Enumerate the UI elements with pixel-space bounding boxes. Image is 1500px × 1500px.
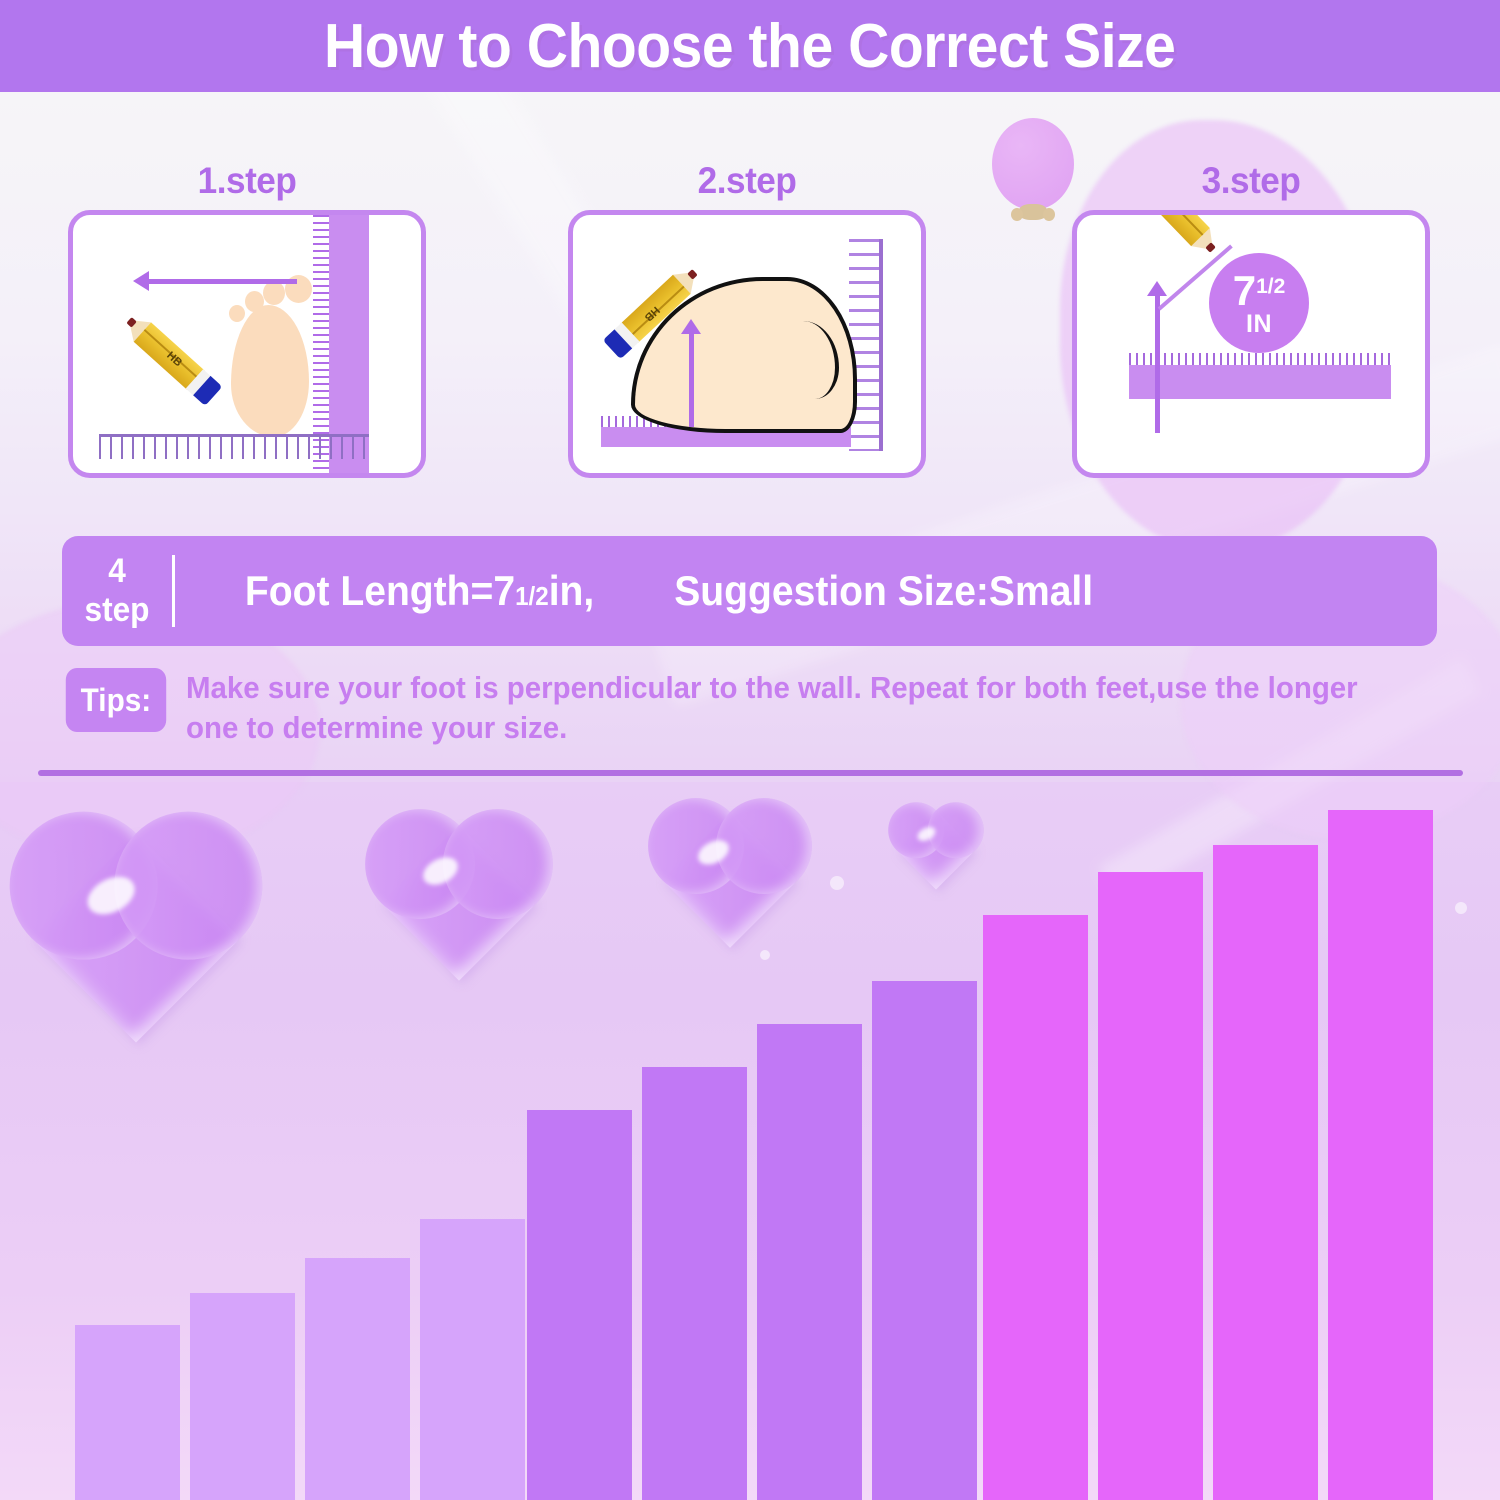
step-3: 3.step 7 1/2 IN xyxy=(1072,160,1430,478)
page-title: How to Choose the Correct Size xyxy=(324,11,1175,82)
chart-bar xyxy=(983,915,1088,1500)
badge-number: 7 xyxy=(1233,270,1256,312)
chart-bar xyxy=(190,1293,295,1500)
measure-arrow-icon xyxy=(147,279,297,284)
measurement-badge: 7 1/2 IN xyxy=(1209,253,1309,353)
chart-bar xyxy=(642,1067,747,1500)
step-2: 2.step HB xyxy=(568,160,926,478)
foot-length-prefix: Foot Length=7 xyxy=(245,567,515,615)
step-1-illustration: HB xyxy=(68,210,426,478)
size-bar-chart: SIZE:S 11C−13.5C/7−73/4(IN) SIZE:M 1−4/8… xyxy=(0,782,1500,1500)
wall-icon xyxy=(879,239,883,451)
chart-bar xyxy=(1213,845,1318,1500)
header-banner: How to Choose the Correct Size xyxy=(0,0,1500,92)
footprint-icon xyxy=(223,259,315,437)
chart-bar xyxy=(75,1325,180,1500)
chart-bar xyxy=(527,1110,632,1500)
measure-arrow-icon xyxy=(1155,293,1160,433)
chart-bar xyxy=(305,1258,410,1500)
ruler-icon xyxy=(1129,365,1391,399)
step-2-illustration: HB xyxy=(568,210,926,478)
tips-section: Tips: Make sure your foot is perpendicul… xyxy=(62,668,1452,747)
tips-text: Make sure your foot is perpendicular to … xyxy=(186,668,1389,747)
badge-unit: IN xyxy=(1233,312,1286,337)
step-4-summary-bar: 4 step Foot Length=7 1/2 in, Suggestion … xyxy=(62,536,1437,646)
step-4-number: 4 xyxy=(66,552,168,591)
divider xyxy=(172,555,175,627)
step-2-label: 2.step xyxy=(577,160,917,202)
section-divider xyxy=(38,770,1463,776)
step-4-text: Foot Length=7 1/2 in, Suggestion Size:Sm… xyxy=(245,567,1093,615)
step-4-badge: 4 step xyxy=(66,552,168,630)
badge-fraction: 1/2 xyxy=(1256,276,1285,297)
ruler-icon xyxy=(99,434,369,459)
chart-bar xyxy=(757,1024,862,1500)
chart-bar xyxy=(420,1219,525,1500)
tips-label: Tips: xyxy=(66,668,166,732)
chart-bar xyxy=(872,981,977,1500)
chart-bar xyxy=(1098,872,1203,1500)
size-guide-infographic: How to Choose the Correct Size 1.step xyxy=(0,0,1500,1500)
foot-length-fraction: 1/2 xyxy=(515,581,549,612)
step-3-label: 3.step xyxy=(1081,160,1421,202)
suggestion-size: Suggestion Size:Small xyxy=(674,567,1093,615)
step-1: 1.step HB xyxy=(68,160,426,478)
pencil-icon: HB xyxy=(1126,210,1223,259)
step-1-label: 1.step xyxy=(77,160,417,202)
step-3-illustration: 7 1/2 IN HB xyxy=(1072,210,1430,478)
foot-length-suffix: in, xyxy=(549,567,595,615)
balloon-icon xyxy=(992,118,1074,210)
chart-bar xyxy=(1328,810,1433,1500)
measure-arrow-icon xyxy=(689,331,694,427)
pencil-icon: HB xyxy=(120,310,221,404)
step-4-word: step xyxy=(66,591,168,630)
